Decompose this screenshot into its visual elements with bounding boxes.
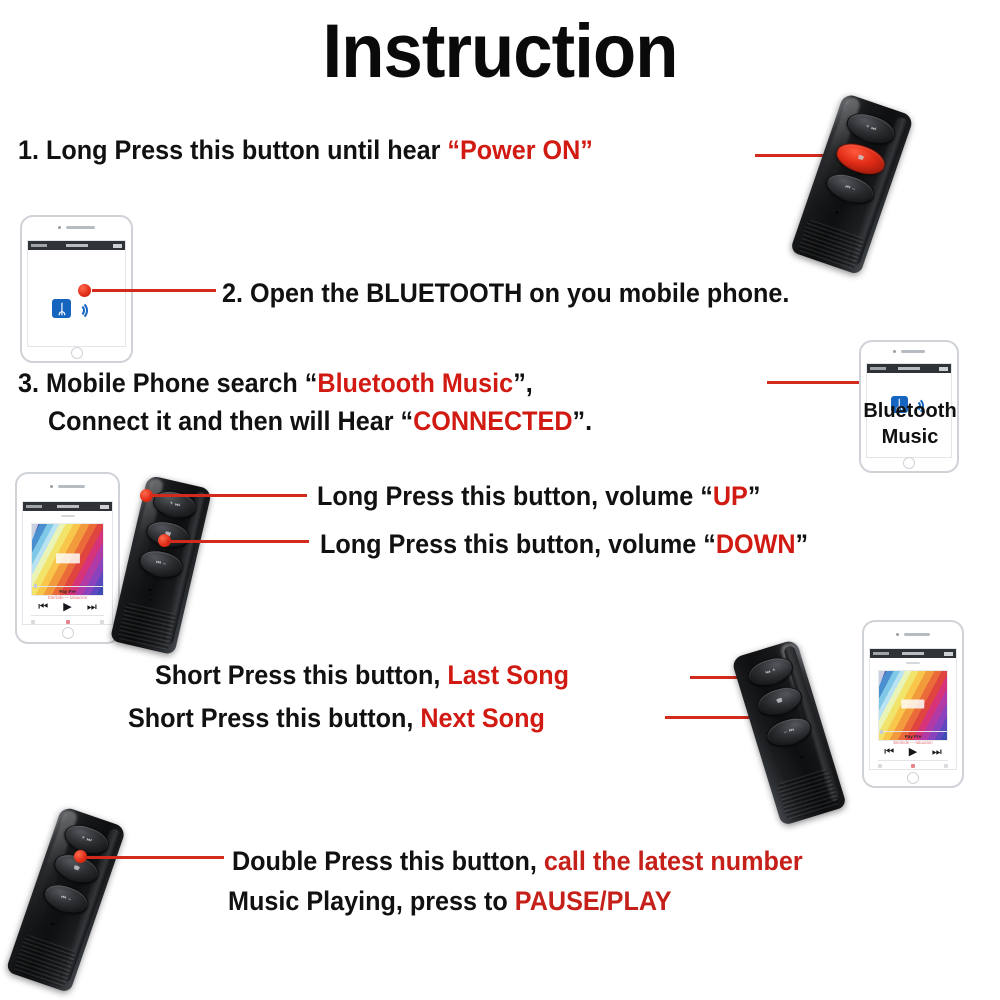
status-battery-2	[939, 367, 948, 371]
phone-music-player-left: Pay Fre Eterinde — tatuacion ⏮ ▶ ⏭	[15, 472, 120, 644]
callout-volume-up-quote-close: ”	[748, 481, 761, 511]
callout-pause-play-main: Music Playing, press to	[228, 886, 515, 916]
phone-earpiece-area-3	[17, 474, 118, 499]
prev-track-button[interactable]: ⏮	[38, 602, 48, 613]
phone-home-button-2	[903, 457, 915, 469]
play-button[interactable]: ▶	[63, 602, 71, 613]
bluetooth-icon: ᛦ	[52, 299, 88, 318]
phone-speaker-4	[904, 633, 929, 636]
callout-call-highlight: call the latest number	[544, 846, 803, 876]
callout-volume-up: Long Press this button, volume “UP”	[317, 479, 760, 513]
callout-call-main: Double Press this button,	[232, 846, 544, 876]
phone-caption-bluetooth-music: Bluetooth Music	[845, 398, 975, 450]
music-player-ui-2: Pay Fre Eterinde — tatuacion ⏮ ▶ ⏭	[870, 658, 956, 768]
device-body-3: + ⏭ ☎ ⏮ −	[731, 639, 847, 826]
phone-screen-4: Pay Fre Eterinde — tatuacion ⏮ ▶ ⏭	[869, 648, 957, 769]
device-button-middle-label-3: ☎	[775, 698, 783, 705]
phone-screen-3: Pay Fre Eterinde — tatuacion ⏮ ▶ ⏭	[22, 501, 113, 625]
player-heart-icon[interactable]	[66, 620, 70, 624]
player-nav-handle-2	[906, 662, 920, 664]
device-led-hole-2	[149, 597, 152, 600]
step-3-line2-highlight: CONNECTED	[413, 406, 572, 436]
instruction-sheet: Instruction 1. Long Press this button un…	[0, 0, 1000, 1000]
callout-next-song-main: Short Press this button,	[128, 703, 420, 733]
player-airplay-icon[interactable]	[31, 620, 35, 624]
step-3-line1-main: 3. Mobile Phone search	[18, 368, 305, 398]
step-2-text-main: 2. Open the BLUETOOTH on you mobile phon…	[222, 278, 789, 308]
status-time-2	[898, 367, 920, 370]
step-1-quote-close: ”	[580, 135, 593, 165]
bluetooth-waves-icon	[74, 301, 88, 317]
step-1-text-main: 1. Long Press this button until hear	[18, 135, 447, 165]
track-title-2: Pay Fre	[870, 734, 956, 739]
callout-volume-down-quote-close: ”	[796, 529, 809, 559]
phone-status-bar	[28, 241, 124, 250]
callout-volume-up-quote-open: “	[700, 481, 713, 511]
step-1-text: 1. Long Press this button until hear “Po…	[18, 133, 593, 167]
device-mic-hole	[834, 209, 839, 214]
callout-volume-down-highlight: DOWN	[716, 529, 796, 559]
player-bottom-row	[31, 620, 104, 624]
device-grip-texture	[798, 219, 865, 270]
receiver-device-songs: + ⏭ ☎ ⏮ −	[731, 639, 847, 826]
device-button-bottom-label-4: ⏮ −	[60, 894, 72, 903]
callout-last-song-main: Short Press this button,	[155, 660, 447, 690]
phone-earpiece-area-4	[864, 622, 962, 647]
phone-speaker	[66, 226, 94, 229]
callout-next-song-highlight: Next Song	[420, 703, 544, 733]
player-heart-icon-2[interactable]	[911, 764, 915, 768]
callout-volume-up-main: Long Press this button, volume	[317, 481, 700, 511]
album-art-label	[55, 554, 79, 563]
leader-line-call	[84, 856, 224, 859]
device-button-bottom-label-3: ⏮ −	[783, 728, 795, 736]
phone-screen: ᛦ	[27, 240, 125, 347]
phone-caption-line-1: Bluetooth	[845, 398, 975, 424]
callout-last-song-highlight: Last Song	[447, 660, 569, 690]
phone-home-button-4	[907, 772, 919, 784]
player-controls: ⏮ ▶ ⏭	[23, 602, 112, 613]
phone-camera-4	[896, 633, 899, 636]
music-player-ui: Pay Fre Eterinde — tatuacion ⏮ ▶ ⏭	[23, 511, 112, 624]
phone-earpiece-area	[22, 217, 131, 239]
phone-caption-line-2: Music	[845, 424, 975, 450]
step-3-line1-quote-open: “	[305, 368, 318, 398]
status-carrier	[31, 244, 47, 247]
track-artist-2: Eterinde — tatuacion	[870, 740, 956, 745]
step-3-line-2: Connect it and then will Hear “CONNECTED…	[48, 404, 592, 438]
device-button-middle-label: ☎	[857, 155, 865, 162]
status-time-4	[902, 652, 924, 655]
callout-volume-down-quote-open: “	[703, 529, 716, 559]
phone-earpiece-area-2	[861, 342, 957, 361]
player-list-icon[interactable]	[100, 620, 104, 624]
callout-volume-down: Long Press this button, volume “DOWN”	[320, 527, 808, 561]
volume-bar-2[interactable]	[878, 760, 949, 761]
callout-pause-play-highlight: PAUSE/PLAY	[515, 886, 672, 916]
player-airplay-icon-2[interactable]	[878, 764, 882, 768]
device-body-4: + ⏭ ☎ ⏮ −	[5, 806, 126, 994]
leader-line-volume-down	[167, 540, 309, 543]
device-body-2: + ⏭ ☎ ⏮ −	[110, 475, 213, 655]
device-led-hole-4	[50, 931, 53, 934]
device-button-bottom-label-2: ⏮ −	[155, 560, 167, 568]
device-mic-hole-4	[50, 920, 55, 925]
callout-double-press-call: Double Press this button, call the lates…	[232, 844, 803, 878]
callout-volume-up-highlight: UP	[713, 481, 748, 511]
device-led-hole	[834, 219, 837, 222]
status-carrier-4	[873, 652, 889, 655]
status-battery-4	[944, 652, 953, 656]
receiver-device-power: + ⏭ ☎ ⏮ −	[790, 93, 915, 276]
volume-bar[interactable]	[31, 615, 104, 616]
step-1-quote-open: “	[447, 135, 460, 165]
track-artist: Eterinde — tatuacion	[23, 595, 112, 600]
device-button-top-label-2: + ⏭	[169, 501, 181, 509]
device-mic-hole-2	[148, 587, 153, 592]
player-bottom-row-2	[878, 764, 949, 768]
step-1-highlight: Power ON	[460, 135, 580, 165]
step-3-line2-quote-close: ”.	[573, 406, 593, 436]
page-title: Instruction	[35, 6, 965, 98]
receiver-device-volume: + ⏭ ☎ ⏮ −	[110, 475, 213, 655]
device-body: + ⏭ ☎ ⏮ −	[790, 93, 915, 276]
phone-home-button	[71, 347, 83, 359]
callout-volume-down-main: Long Press this button, volume	[320, 529, 703, 559]
leader-line-volume-up	[150, 494, 307, 497]
phone-camera	[58, 226, 61, 229]
player-nav-handle	[61, 515, 75, 517]
phone-status-bar-4	[870, 649, 956, 658]
callout-next-song: Short Press this button, Next Song	[128, 701, 545, 735]
player-nav-2	[875, 662, 951, 665]
player-nav	[28, 515, 106, 518]
step-2-text: 2. Open the BLUETOOTH on you mobile phon…	[222, 276, 789, 310]
receiver-device-call: + ⏭ ☎ ⏮ −	[5, 806, 126, 994]
device-button-bottom-label: ⏮ −	[844, 184, 856, 193]
next-track-button-2[interactable]: ⏭	[932, 747, 942, 758]
phone-camera-3	[50, 485, 53, 488]
status-battery-3	[100, 505, 109, 509]
step-3-line2-main: Connect it and then will Hear	[48, 406, 400, 436]
status-battery	[113, 244, 122, 248]
status-time-3	[57, 505, 79, 508]
play-button-2[interactable]: ▶	[909, 747, 917, 758]
device-button-middle-label-4: ☎	[72, 865, 80, 872]
step-3-line-1: 3. Mobile Phone search “Bluetooth Music”…	[18, 366, 533, 400]
device-led-hole-3	[801, 765, 804, 768]
seek-bar[interactable]	[31, 586, 104, 587]
device-button-top-label-3: + ⏭	[764, 667, 776, 675]
phone-home-button-3	[62, 627, 74, 639]
track-title: Pay Fre	[23, 589, 112, 594]
step-3-line2-quote-open: “	[400, 406, 413, 436]
device-button-top-label-4: + ⏭	[81, 835, 93, 844]
phone-speaker-3	[58, 485, 84, 488]
step-3-line1-quote-close: ”,	[513, 368, 533, 398]
seek-knob[interactable]	[34, 584, 37, 588]
phone-music-player-right: Pay Fre Eterinde — tatuacion ⏮ ▶ ⏭	[862, 620, 964, 788]
callout-pause-play: Music Playing, press to PAUSE/PLAY	[228, 884, 672, 918]
device-mic-hole-3	[799, 754, 804, 759]
next-track-button[interactable]: ⏭	[87, 602, 97, 613]
player-list-icon-2[interactable]	[944, 764, 948, 768]
status-carrier-3	[26, 505, 42, 508]
phone-speaker-2	[901, 350, 926, 353]
status-carrier-2	[870, 367, 886, 370]
seek-bar-2[interactable]	[878, 731, 949, 732]
device-button-top-label: + ⏭	[865, 124, 877, 133]
marker-dot-bluetooth	[78, 284, 91, 297]
status-time	[66, 244, 88, 247]
leader-line-step-2	[92, 289, 216, 292]
phone-camera-2	[893, 350, 896, 353]
device-grip-texture-2	[117, 602, 177, 650]
player-controls-2: ⏮ ▶ ⏭	[870, 747, 956, 758]
seek-knob-2[interactable]	[880, 730, 883, 734]
prev-track-button-2[interactable]: ⏮	[884, 747, 894, 758]
phone-status-bar-2	[867, 364, 951, 373]
album-art-label-2	[901, 700, 924, 709]
device-grip-texture-3	[776, 768, 839, 821]
phone-status-bar-3	[23, 502, 112, 511]
callout-last-song: Short Press this button, Last Song	[155, 658, 569, 692]
step-3-line1-highlight: Bluetooth Music	[317, 368, 513, 398]
